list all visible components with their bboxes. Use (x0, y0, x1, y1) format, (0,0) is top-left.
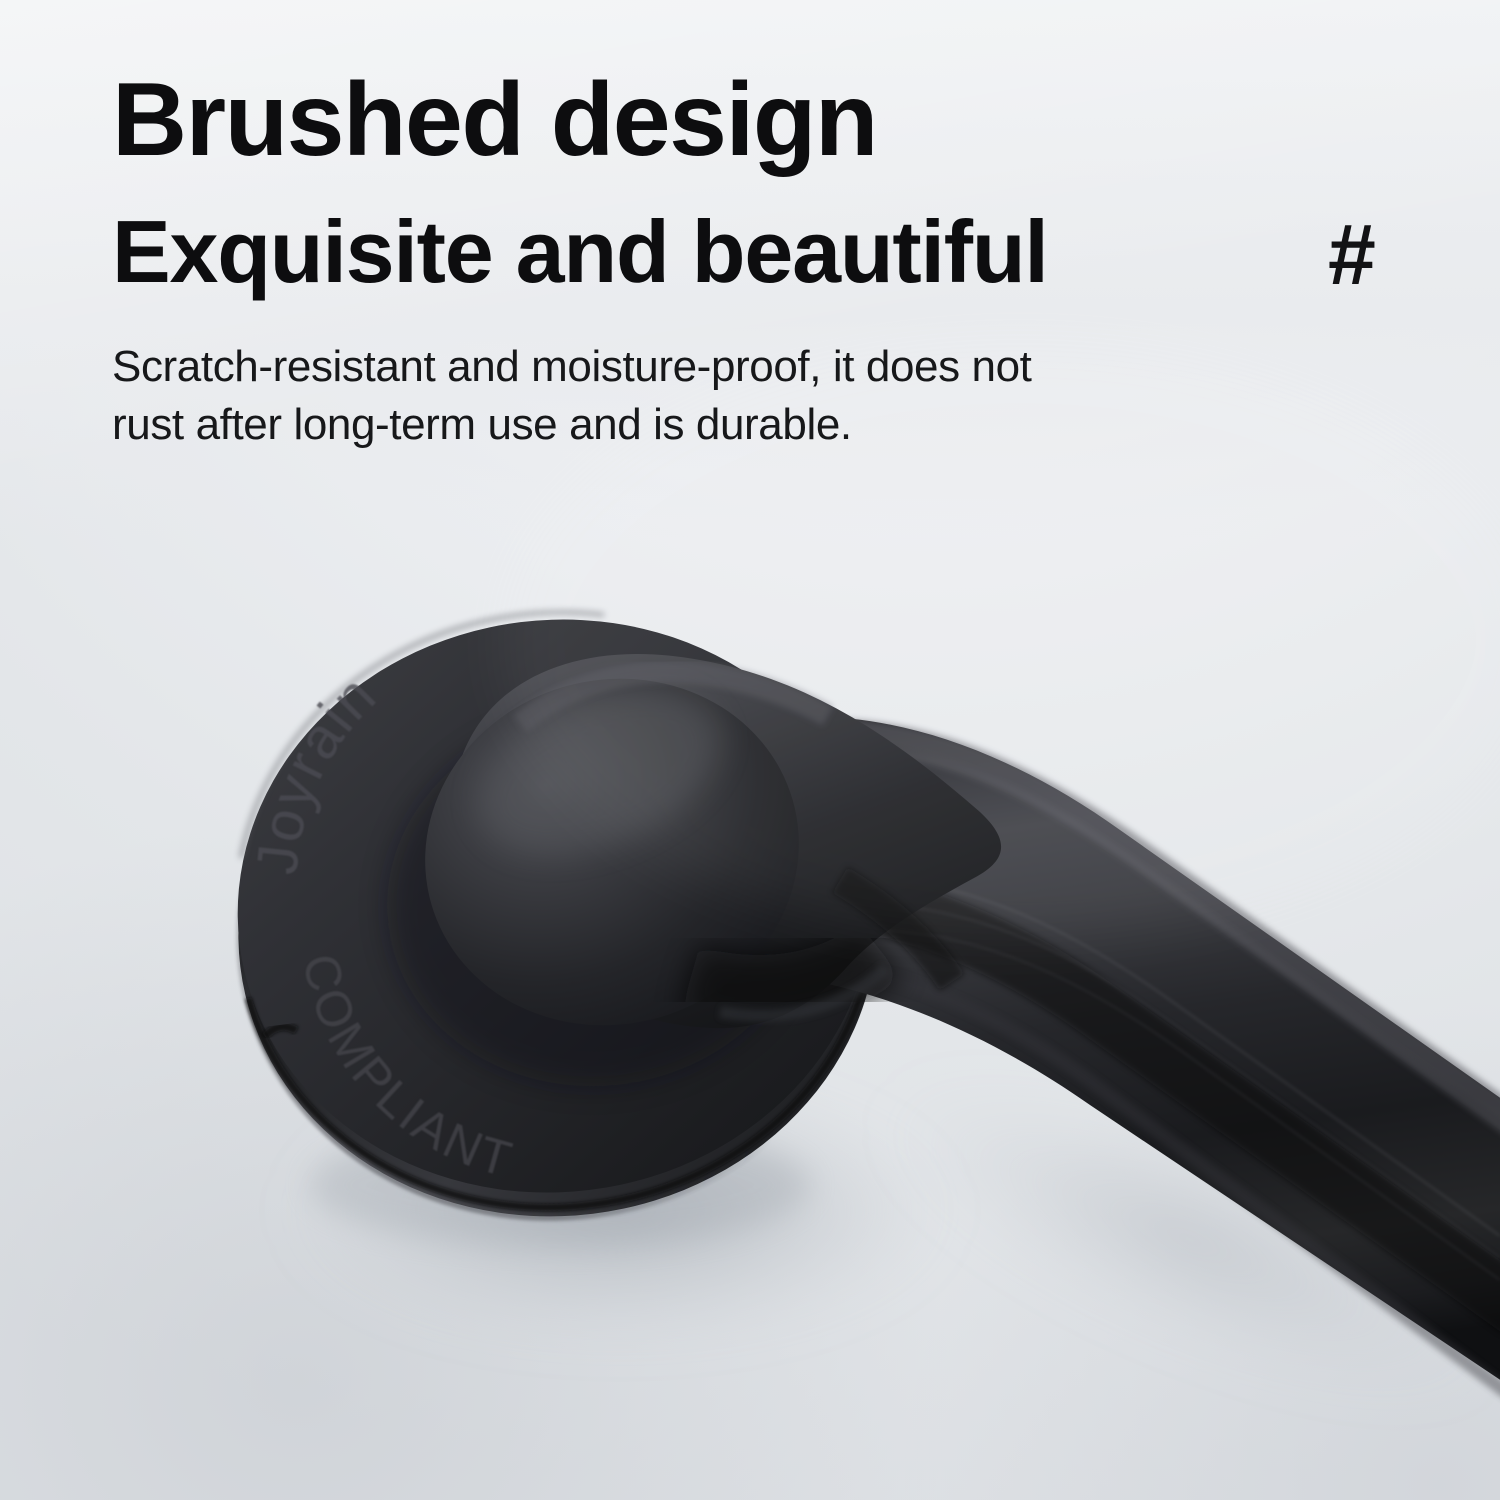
headline-primary: Brushed design (112, 64, 1292, 176)
headline-secondary: Exquisite and beautiful (112, 204, 1292, 300)
hash-mark-icon: # (1328, 212, 1375, 298)
subcopy-text: Scratch-resistant and moisture-proof, it… (112, 338, 1072, 454)
product-feature-image: Joyrain COMPLIANT (0, 0, 1500, 1500)
copy-block: Brushed design Exquisite and beautiful S… (112, 64, 1292, 454)
